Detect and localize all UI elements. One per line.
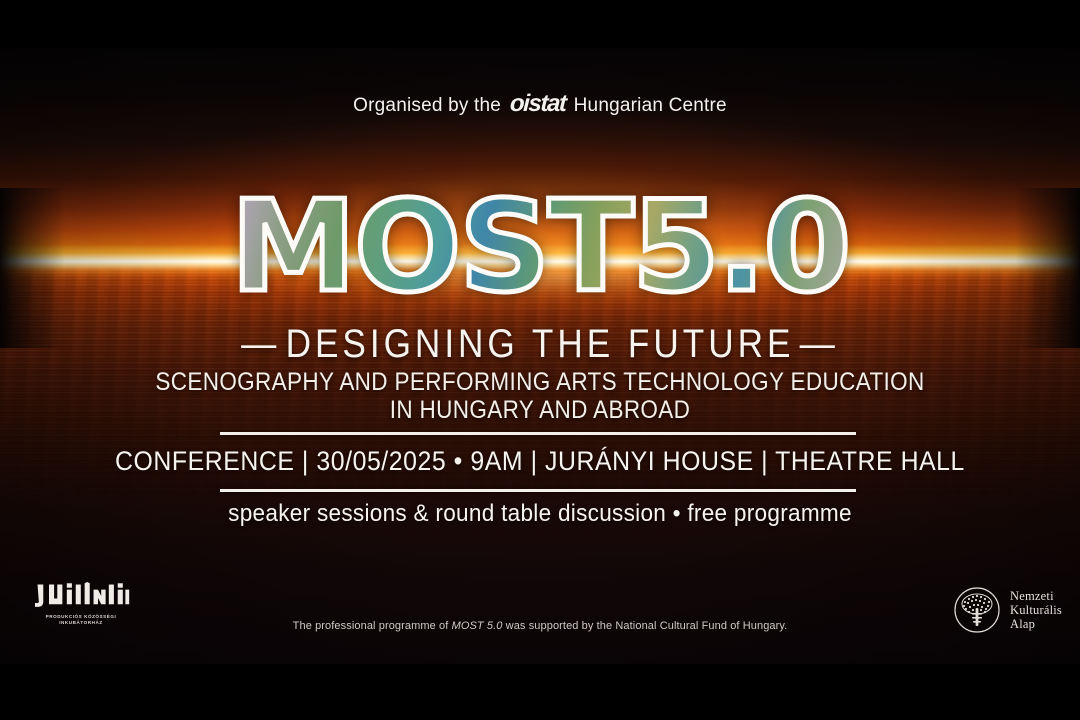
subtitle-block: SCENOGRAPHY AND PERFORMING ARTS TECHNOLO… bbox=[54, 368, 1026, 424]
tagline-dash-left: — bbox=[236, 322, 286, 367]
divider-rule-bottom bbox=[220, 489, 856, 492]
poster-content: Organised by the oistat Hungarian Centre… bbox=[0, 0, 1080, 720]
organiser-line: Organised by the oistat Hungarian Centre bbox=[0, 90, 1080, 118]
programme-extras: speaker sessions & round table discussio… bbox=[32, 500, 1047, 528]
nka-line-1: Nemzeti bbox=[1010, 589, 1062, 603]
tagline-text: DESIGNING THE FUTURE bbox=[286, 322, 795, 366]
letterbox-bar-top bbox=[0, 0, 1080, 48]
oistat-logo-text: oistat bbox=[506, 90, 569, 118]
subtitle-line-2: IN HUNGARY AND ABROAD bbox=[54, 396, 1026, 424]
organiser-prefix: Organised by the bbox=[353, 95, 501, 116]
tagline: —DESIGNING THE FUTURE— bbox=[65, 322, 1015, 367]
event-wordmark: MOST5.0 bbox=[0, 186, 1080, 314]
subtitle-line-1: SCENOGRAPHY AND PERFORMING ARTS TECHNOLO… bbox=[54, 368, 1026, 396]
tagline-dash-right: — bbox=[794, 322, 844, 367]
poster-canvas: Organised by the oistat Hungarian Centre… bbox=[0, 0, 1080, 720]
credit-before: The professional programme of bbox=[293, 620, 449, 632]
juranyi-wordmark-icon bbox=[35, 582, 130, 610]
credit-after: was supported by the National Cultural F… bbox=[506, 620, 788, 632]
credit-emphasis: MOST 5.0 bbox=[452, 620, 503, 632]
funding-credit: The professional programme of MOST 5.0 w… bbox=[0, 620, 1080, 632]
conference-details: CONFERENCE | 30/05/2025 • 9AM | JURÁNYI … bbox=[43, 446, 1037, 477]
divider-rule-top bbox=[220, 432, 856, 435]
nka-line-2: Kulturális bbox=[1010, 603, 1062, 617]
letterbox-bar-bottom bbox=[0, 664, 1080, 720]
wordmark-text: MOST5.0 bbox=[231, 186, 849, 308]
organiser-suffix: Hungarian Centre bbox=[574, 95, 727, 116]
